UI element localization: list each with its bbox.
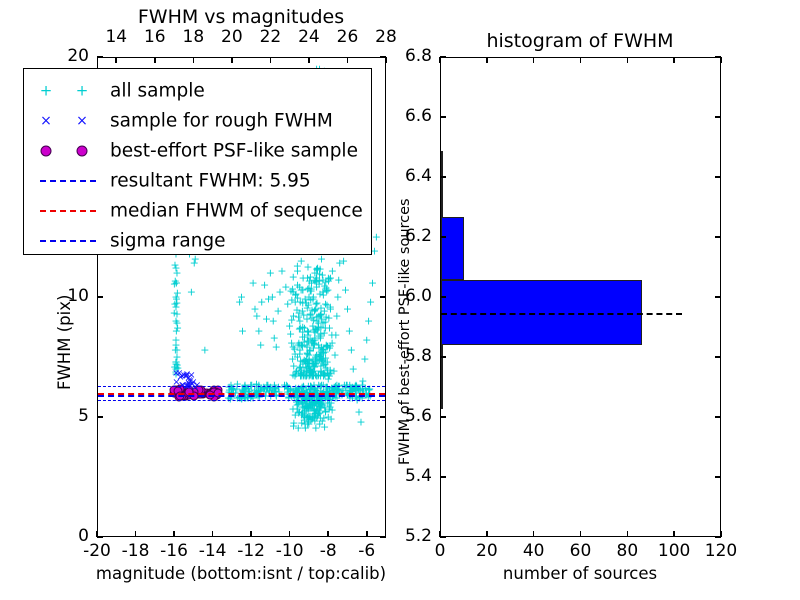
tick-mark [486, 531, 488, 537]
tick-mark [97, 536, 103, 538]
tick-mark [135, 531, 137, 537]
cross-marker-icon: × [40, 114, 52, 128]
histogram-y-tick-label: 6.8 [0, 46, 432, 66]
histogram-x-tick-label: 0 [435, 541, 446, 561]
legend-item[interactable]: ++all sample [24, 75, 371, 106]
dashed-line-icon [40, 210, 96, 212]
tick-mark [580, 57, 582, 63]
legend-item[interactable]: ××sample for rough FWHM [24, 105, 371, 136]
tick-mark [439, 57, 441, 63]
scatter-top-tick-label: 22 [260, 27, 282, 47]
tick-mark [366, 531, 368, 537]
tick-mark [627, 57, 629, 63]
tick-mark [533, 531, 535, 537]
histogram-x-tick-label: 60 [570, 541, 592, 561]
tick-mark [720, 57, 722, 63]
tick-mark [289, 531, 291, 537]
tick-mark [580, 531, 582, 537]
scatter-top-tick-label: 18 [183, 27, 205, 47]
scatter-top-tick-label: 20 [221, 27, 243, 47]
histogram-y-tick-label: 5.8 [0, 346, 432, 366]
tick-mark [440, 416, 446, 418]
legend-item[interactable]: sigma range [24, 225, 371, 256]
tick-mark [115, 57, 117, 63]
legend-item-label: best-effort PSF-like sample [110, 140, 358, 161]
histogram-median-line-layer [441, 58, 720, 536]
legend-item-label: sigma range [110, 230, 226, 251]
histogram-x-tick-label: 40 [523, 541, 545, 561]
tick-mark [347, 57, 349, 63]
tick-mark [327, 531, 329, 537]
cross-marker-icon: × [76, 114, 88, 128]
tick-mark [440, 56, 446, 58]
tick-mark [380, 416, 386, 418]
tick-mark [97, 56, 103, 58]
tick-mark [486, 57, 488, 63]
scatter-top-tick-label: 14 [105, 27, 127, 47]
scatter-plot-title: FWHM vs magnitudes [138, 6, 344, 28]
legend-item[interactable]: resultant FWHM: 5.95 [24, 165, 371, 196]
tick-mark [173, 531, 175, 537]
tick-mark [440, 296, 446, 298]
tick-mark [440, 356, 446, 358]
tick-mark [380, 296, 386, 298]
dashed-line-icon [40, 180, 96, 182]
tick-mark [627, 531, 629, 537]
tick-mark [673, 57, 675, 63]
tick-mark [212, 531, 214, 537]
dash-dot-line-icon [40, 240, 96, 242]
circle-marker-icon [41, 145, 52, 156]
histogram-title: histogram of FWHM [486, 30, 673, 52]
tick-mark [385, 57, 387, 63]
scatter-top-tick-label: 24 [298, 27, 320, 47]
histogram-x-tick-label: 20 [476, 541, 498, 561]
reference-line [98, 395, 385, 397]
scatter-y-axis-label: FWHM (pix) [55, 295, 74, 390]
tick-mark [380, 56, 386, 58]
tick-mark [308, 57, 310, 63]
tick-mark [193, 57, 195, 63]
circle-marker-icon [77, 145, 88, 156]
histogram-x-axis-label: number of sources [503, 564, 657, 583]
histogram-y-tick-label: 6.0 [0, 286, 432, 306]
tick-mark [715, 116, 721, 118]
tick-mark [231, 57, 233, 63]
plus-marker-icon: + [76, 83, 89, 98]
tick-mark [715, 476, 721, 478]
reference-line [98, 400, 385, 401]
histogram-x-tick-label: 100 [658, 541, 690, 561]
histogram-median-line [441, 313, 682, 315]
tick-mark [715, 56, 721, 58]
tick-mark [440, 476, 446, 478]
tick-mark [715, 536, 721, 538]
scatter-top-tick-label: 26 [337, 27, 359, 47]
tick-mark [440, 236, 446, 238]
plus-marker-icon: + [40, 83, 53, 98]
scatter-legend[interactable]: ++all sample××sample for rough FWHMbest-… [23, 68, 372, 255]
tick-mark [380, 536, 386, 538]
tick-mark [715, 356, 721, 358]
scatter-top-tick-label: 28 [375, 27, 397, 47]
tick-mark [533, 57, 535, 63]
reference-line [98, 393, 385, 395]
figure-canvas: FWHM vs magnitudes magnitude (bottom:isn… [0, 0, 800, 600]
histogram-y-tick-label: 5.4 [0, 466, 432, 486]
legend-item-label: sample for rough FWHM [110, 110, 333, 131]
legend-item[interactable]: median FHWM of sequence [24, 195, 371, 226]
legend-item[interactable]: best-effort PSF-like sample [24, 135, 371, 166]
tick-mark [440, 176, 446, 178]
scatter-top-tick-label: 16 [144, 27, 166, 47]
histogram-y-tick-label: 5.6 [0, 406, 432, 426]
tick-mark [715, 176, 721, 178]
tick-mark [715, 296, 721, 298]
legend-item-label: all sample [110, 80, 205, 101]
tick-mark [250, 531, 252, 537]
tick-mark [97, 416, 103, 418]
legend-item-label: median FHWM of sequence [110, 200, 363, 221]
tick-mark [440, 536, 446, 538]
tick-mark [440, 116, 446, 118]
tick-mark [97, 296, 103, 298]
tick-mark [715, 236, 721, 238]
tick-mark [673, 531, 675, 537]
legend-item-label: resultant FWHM: 5.95 [110, 170, 311, 191]
scatter-x-axis-label: magnitude (bottom:isnt / top:calib) [96, 564, 386, 583]
histogram-x-tick-label: 120 [705, 541, 737, 561]
tick-mark [270, 57, 272, 63]
tick-mark [154, 57, 156, 63]
histogram-x-tick-label: 80 [617, 541, 639, 561]
tick-mark [715, 416, 721, 418]
reference-line [98, 386, 385, 387]
